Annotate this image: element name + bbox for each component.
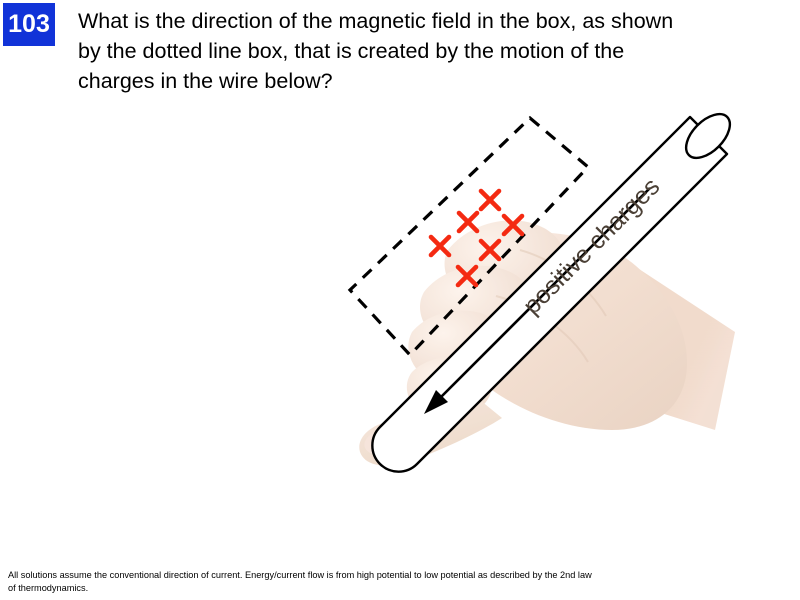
footer-note: All solutions assume the conventional di…: [8, 569, 792, 594]
question-line-3: charges in the wire below?: [78, 66, 738, 96]
footer-line-2: of thermodynamics.: [8, 582, 792, 595]
diagram-svg: [320, 100, 780, 520]
question-number-badge: 103: [3, 3, 55, 46]
physics-diagram: positive charges: [320, 100, 780, 520]
field-marker: [459, 213, 477, 231]
field-marker: [431, 237, 449, 255]
question-text: What is the direction of the magnetic fi…: [78, 6, 738, 96]
field-marker: [481, 191, 499, 209]
question-line-2: by the dotted line box, that is created …: [78, 36, 738, 66]
question-line-1: What is the direction of the magnetic fi…: [78, 6, 738, 36]
footer-line-1: All solutions assume the conventional di…: [8, 569, 792, 582]
question-number-label: 103: [8, 12, 50, 37]
slide-canvas: 103 What is the direction of the magneti…: [0, 0, 800, 600]
